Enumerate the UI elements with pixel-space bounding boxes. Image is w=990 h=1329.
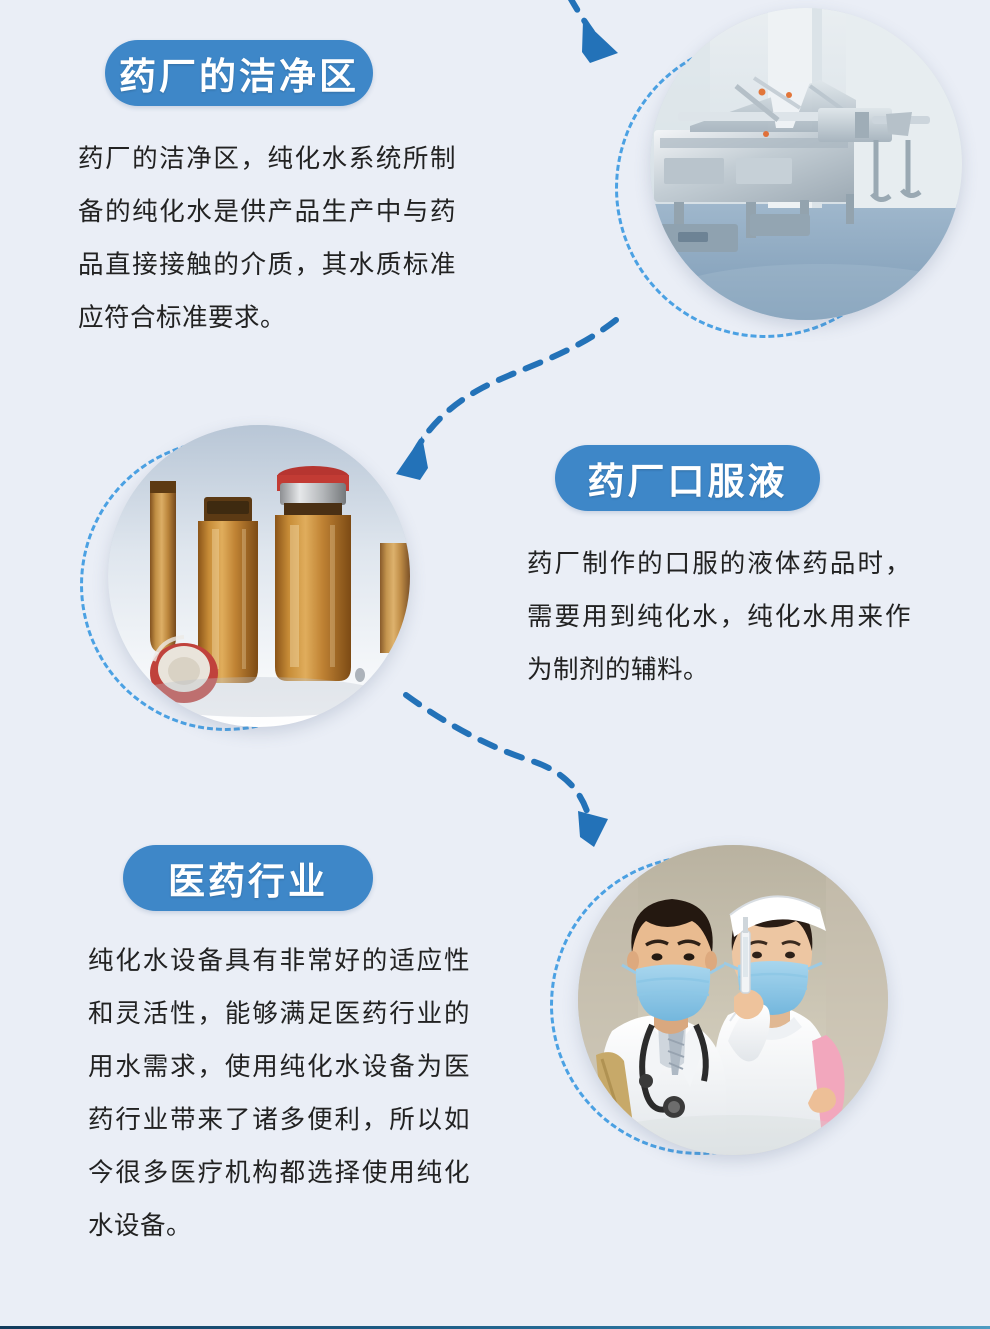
section-heading-pharma-industry: 医药行业 [123, 845, 373, 911]
arrow-to-medical-staff-icon [390, 665, 650, 865]
section-heading-oral-liquid: 药厂口服液 [555, 445, 820, 511]
section-body-pharma-industry: 纯化水设备具有非常好的适应性和灵活性，能够满足医药行业的用水需求，使用纯化水设备… [88, 935, 470, 1253]
doctor-nurse-photo [578, 845, 888, 1155]
pharmaceutical-cleanroom-photo [650, 8, 962, 320]
vials-image-group [80, 425, 440, 755]
oral-liquid-vials-photo [108, 425, 410, 727]
promo-page: 药厂的洁净区 药厂的洁净区，纯化水系统所制备的纯化水是供产品生产中与药品直接接触… [0, 0, 990, 1329]
medical-staff-image-group [550, 845, 930, 1185]
cleanroom-image-group [610, 0, 990, 345]
section-heading-cleanroom: 药厂的洁净区 [105, 40, 373, 106]
